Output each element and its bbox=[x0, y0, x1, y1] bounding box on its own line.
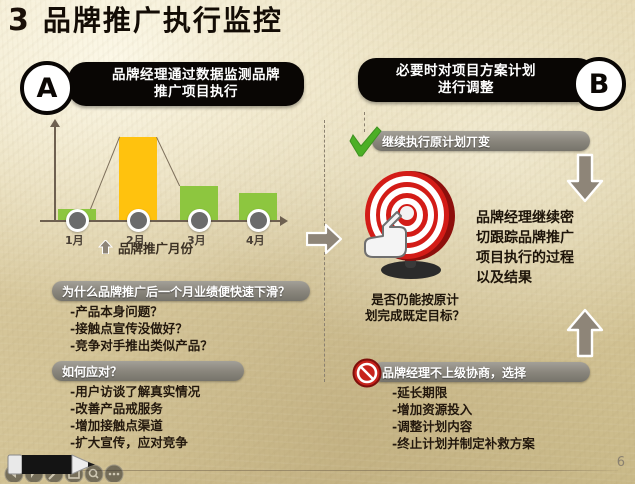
header-banner-b: 必要时对项目方案计划 进行调整 bbox=[358, 58, 596, 102]
question2-bullet-list: -用户访谈了解真实情况-改善产品戒服务-增加接触点渠道-扩大宣传，应对竞争 bbox=[70, 383, 200, 451]
no-entry-icon bbox=[352, 358, 382, 388]
question1-banner: 为什么品牌推广后一个月业绩便快速下滑？ bbox=[52, 281, 310, 301]
center-question-line1: 是否仍能按原计 bbox=[356, 292, 474, 308]
chart-trend-segment bbox=[90, 137, 120, 209]
header-a-line1: 品牌经理通过数据监测品牌 bbox=[96, 67, 296, 84]
red-banner-text: 品牌经理不上级协商，选择 bbox=[382, 364, 526, 381]
slide-number: 3 bbox=[8, 6, 29, 36]
red-bullet-item: -调整计划内容 bbox=[392, 418, 535, 435]
right-paragraph-line: 切跟踪品牌推广 bbox=[476, 228, 626, 248]
question2-bullet-item: -扩大宣传，应对竞争 bbox=[70, 434, 200, 451]
right-paragraph: 品牌经理继续密切跟踪品牌推广项目执行的过程以及结果 bbox=[476, 208, 626, 288]
green-banner: 继续执行原计划丌变 bbox=[372, 131, 590, 151]
arrow-down-icon bbox=[565, 153, 605, 203]
red-bullet-item: -增加资源投入 bbox=[392, 401, 535, 418]
green-banner-text: 继续执行原计划丌变 bbox=[382, 133, 490, 150]
center-question-line2: 划完成既定目标？ bbox=[356, 308, 474, 324]
question1-bullet-item: -竞争对手推出类似产品？ bbox=[70, 337, 213, 354]
divider-dashed-top bbox=[324, 120, 325, 226]
right-paragraph-line: 品牌经理继续密 bbox=[476, 208, 626, 228]
chart-trend-segment bbox=[156, 137, 180, 186]
badge-b: B bbox=[572, 57, 626, 111]
page-title: 3 品牌推广执行监控 bbox=[8, 6, 283, 36]
header-banner-a: 品牌经理通过数据监测品牌 推广项目执行 bbox=[68, 62, 304, 106]
center-question-text: 是否仍能按原计 划完成既定目标？ bbox=[356, 292, 474, 324]
arrow-up-icon bbox=[565, 308, 605, 358]
chart-bar bbox=[119, 137, 157, 220]
chart-data-point bbox=[127, 209, 150, 232]
header-a-line2: 推广项目执行 bbox=[96, 84, 296, 101]
check-icon bbox=[348, 126, 382, 158]
presenter-toolbar[interactable] bbox=[4, 452, 136, 482]
question2-bullet-item: -增加接触点渠道 bbox=[70, 417, 200, 434]
bar-chart: 1月2月3月4月 bbox=[32, 126, 294, 238]
divider-dashed-bottom bbox=[324, 252, 325, 382]
question2-bullet-item: -用户访谈了解真实情况 bbox=[70, 383, 200, 400]
question1-banner-text: 为什么品牌推广后一个月业绩便快速下滑？ bbox=[62, 283, 290, 300]
slide-title-text: 品牌推广执行监控 bbox=[43, 7, 283, 35]
question2-banner: 如何应对？ bbox=[52, 361, 244, 381]
page-number: 6 bbox=[617, 455, 625, 470]
red-banner: 品牌经理不上级协商，选择 bbox=[372, 362, 590, 382]
question2-bullet-item: -改善产品戒服务 bbox=[70, 400, 200, 417]
chart-y-axis bbox=[54, 126, 56, 222]
header-b-line2: 进行调整 bbox=[366, 80, 566, 97]
red-bullet-list: -延长期限-增加资源投入-调整计划内容-终止计划并制定补救方案 bbox=[392, 384, 535, 452]
badge-a: A bbox=[20, 61, 74, 115]
header-banner-b-text: 必要时对项目方案计划 进行调整 bbox=[366, 63, 566, 97]
right-paragraph-line: 项目执行的过程 bbox=[476, 248, 626, 268]
chart-data-point bbox=[247, 209, 270, 232]
target-bullseye-icon bbox=[355, 170, 465, 282]
red-bullet-item: -延长期限 bbox=[392, 384, 535, 401]
chart-data-point bbox=[66, 209, 89, 232]
arrow-right-icon bbox=[306, 222, 342, 256]
header-b-line1: 必要时对项目方案计划 bbox=[366, 63, 566, 80]
chart-x-axis-title: 品牌推广月份 bbox=[118, 238, 193, 257]
chart-data-point bbox=[188, 209, 211, 232]
presentation-slide: 3 品牌推广执行监控 品牌经理通过数据监测品牌 推广项目执行 A 必要时对项目方… bbox=[0, 0, 635, 484]
up-arrow-icon bbox=[98, 240, 113, 254]
header-banner-a-text: 品牌经理通过数据监测品牌 推广项目执行 bbox=[96, 67, 296, 101]
question1-bullet-item: -产品本身问题？ bbox=[70, 303, 213, 320]
chart-tick-label: 1月 bbox=[65, 232, 84, 248]
question1-bullet-item: -接触点宣传没做好？ bbox=[70, 320, 213, 337]
right-paragraph-line: 以及结果 bbox=[476, 268, 626, 288]
question1-bullet-list: -产品本身问题？-接触点宣传没做好？-竞争对手推出类似产品？ bbox=[70, 303, 213, 354]
chart-tick-label: 4月 bbox=[246, 232, 265, 248]
question2-banner-text: 如何应对？ bbox=[62, 363, 122, 380]
red-bullet-item: -终止计划并制定补救方案 bbox=[392, 435, 535, 452]
